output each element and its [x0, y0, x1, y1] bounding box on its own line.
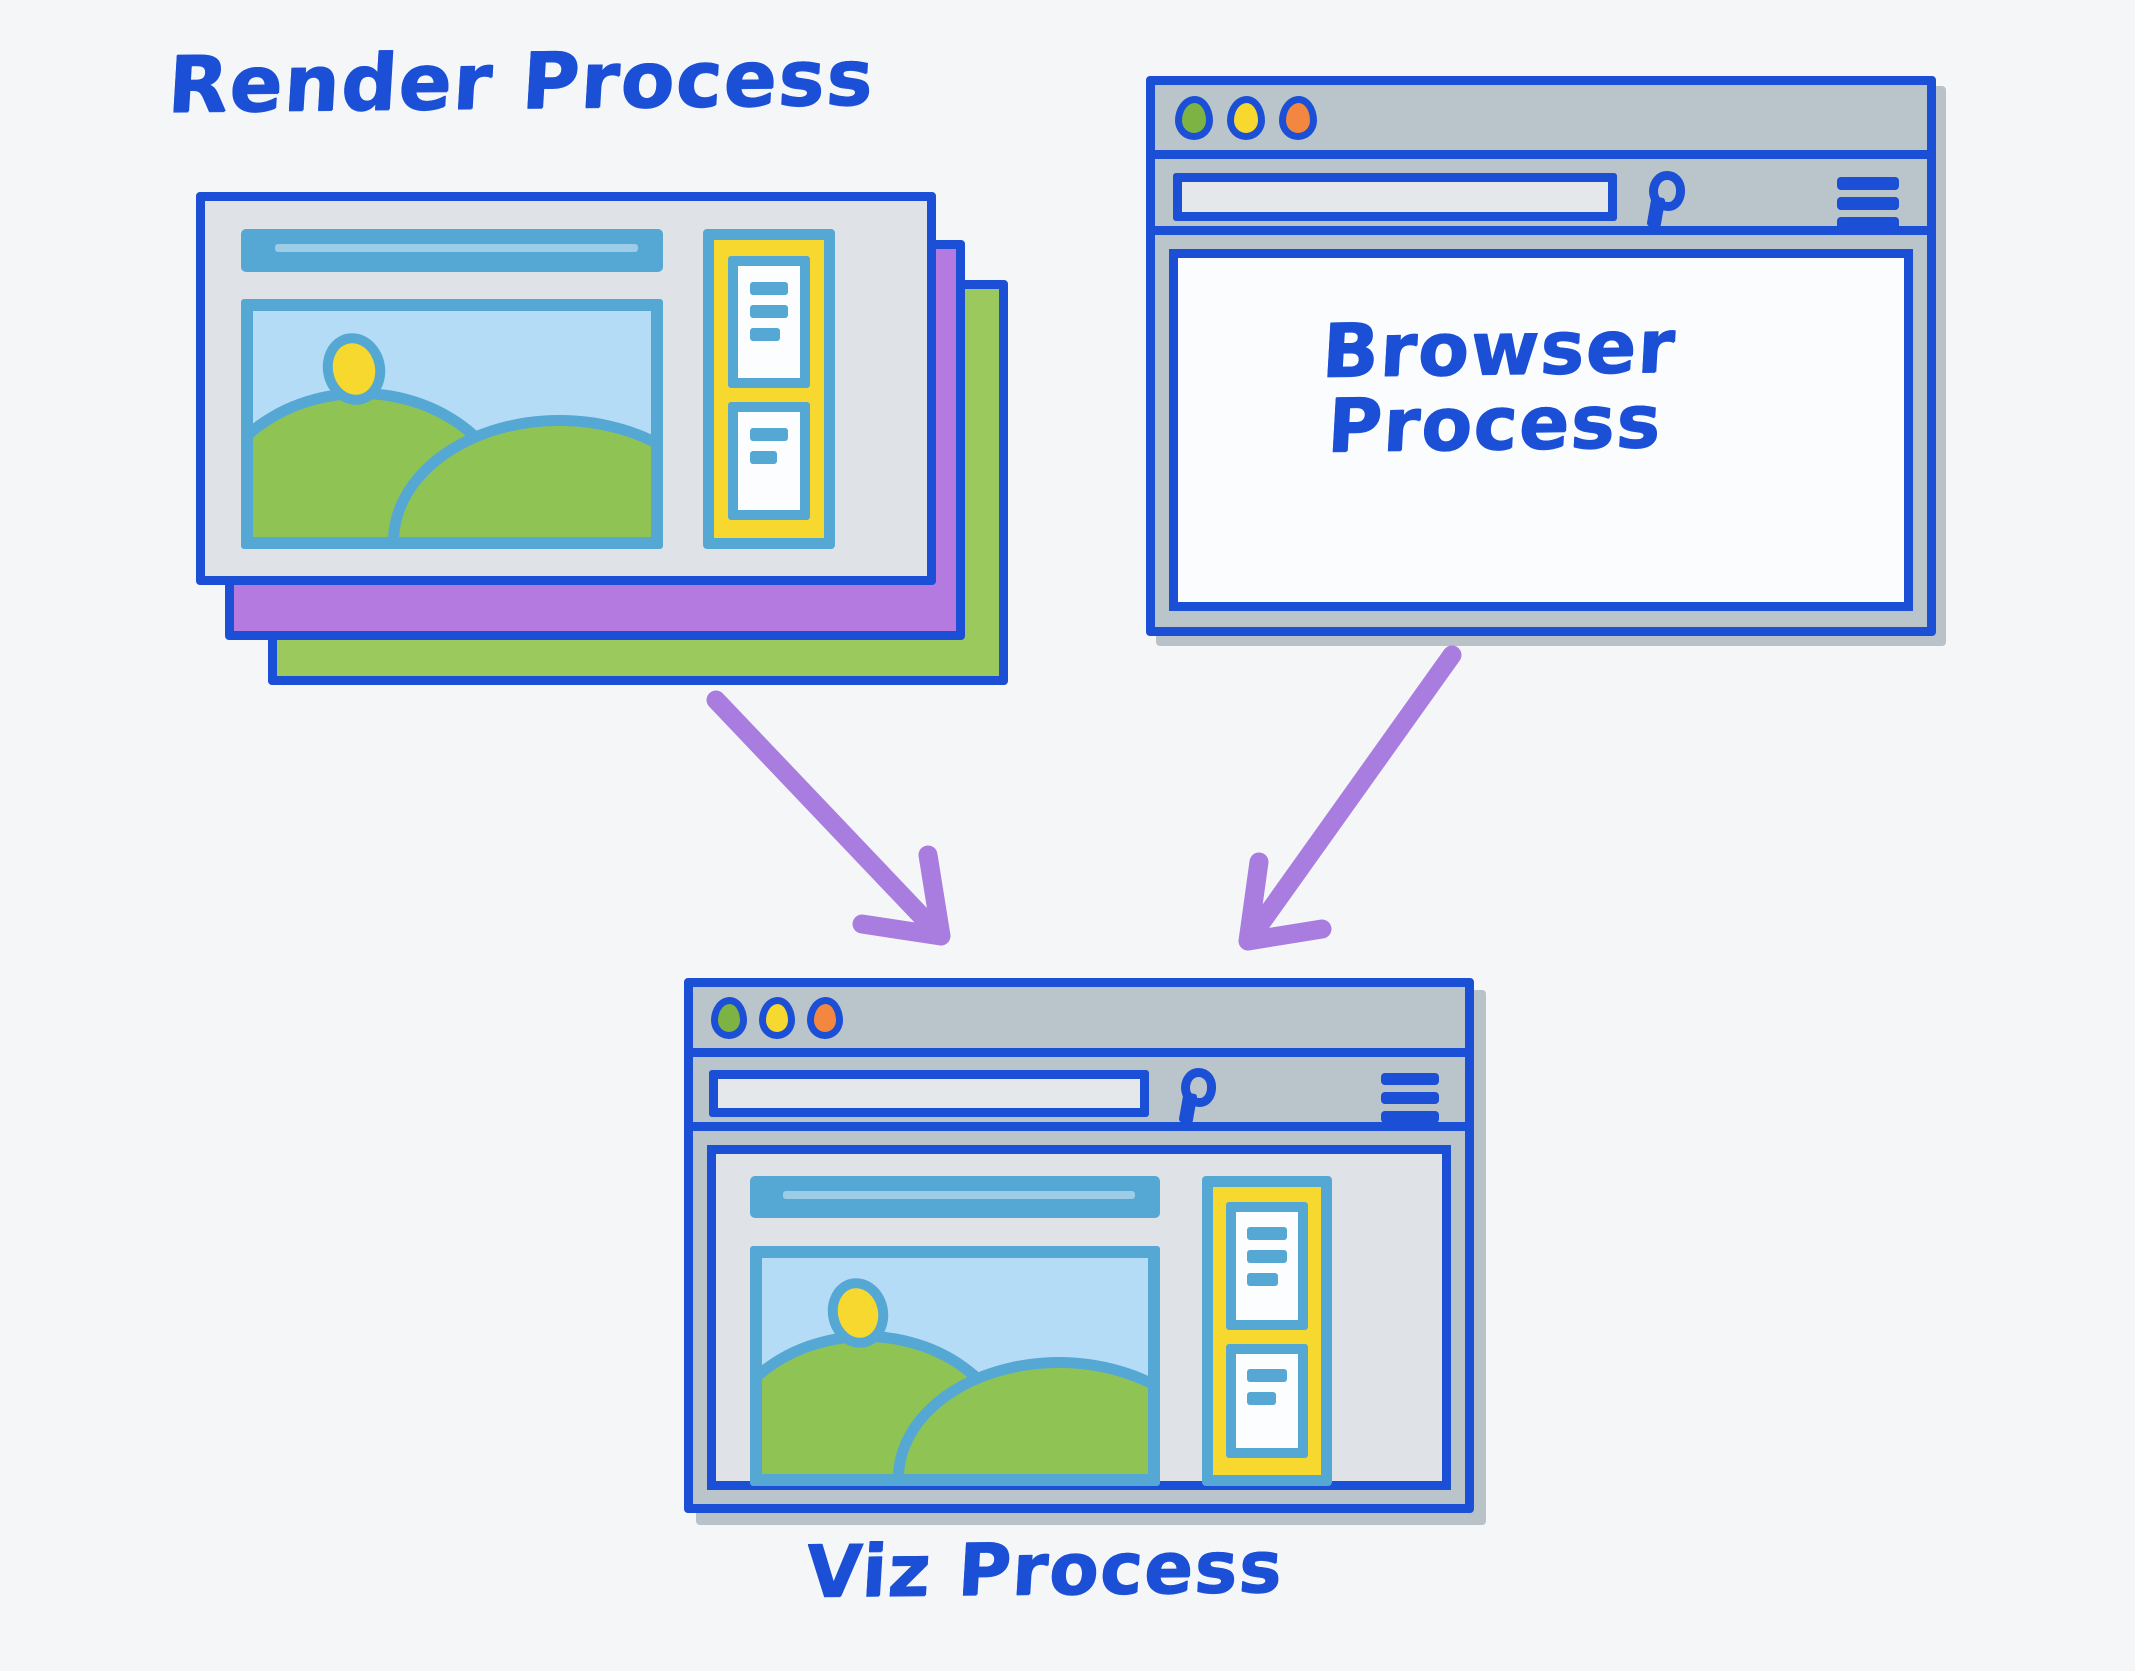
- ad-card[interactable]: [1226, 1344, 1308, 1458]
- ad-card[interactable]: [1226, 1202, 1308, 1330]
- minimize-dot-icon[interactable]: [711, 997, 747, 1039]
- ad-text-line: [1247, 1227, 1287, 1240]
- ad-text-line: [1247, 1392, 1276, 1405]
- viz-toolbar: [693, 1057, 1465, 1131]
- viz-content-area: [707, 1145, 1451, 1490]
- url-input[interactable]: [709, 1070, 1149, 1117]
- ad-text-line: [1247, 1369, 1287, 1382]
- ad-text-line: [1247, 1273, 1278, 1286]
- viz-process-label: Viz Process: [804, 1530, 1286, 1610]
- arrow-render-to-viz: [716, 700, 941, 936]
- diagram-canvas: Render Process: [0, 0, 2135, 1671]
- viz-page-content: [716, 1154, 1442, 1481]
- hamburger-menu-icon[interactable]: [1381, 1073, 1439, 1123]
- viz-window-frame[interactable]: [684, 978, 1474, 1513]
- close-dot-icon[interactable]: [807, 997, 843, 1039]
- ad-panel: [1202, 1176, 1332, 1486]
- maximize-dot-icon[interactable]: [759, 997, 795, 1039]
- page-nav-bar: [750, 1176, 1160, 1218]
- viz-titlebar: [693, 987, 1465, 1057]
- ad-text-line: [1247, 1250, 1287, 1263]
- hero-image: [750, 1246, 1160, 1486]
- search-key-icon[interactable]: [1171, 1068, 1219, 1122]
- arrow-browser-to-viz: [1248, 655, 1452, 941]
